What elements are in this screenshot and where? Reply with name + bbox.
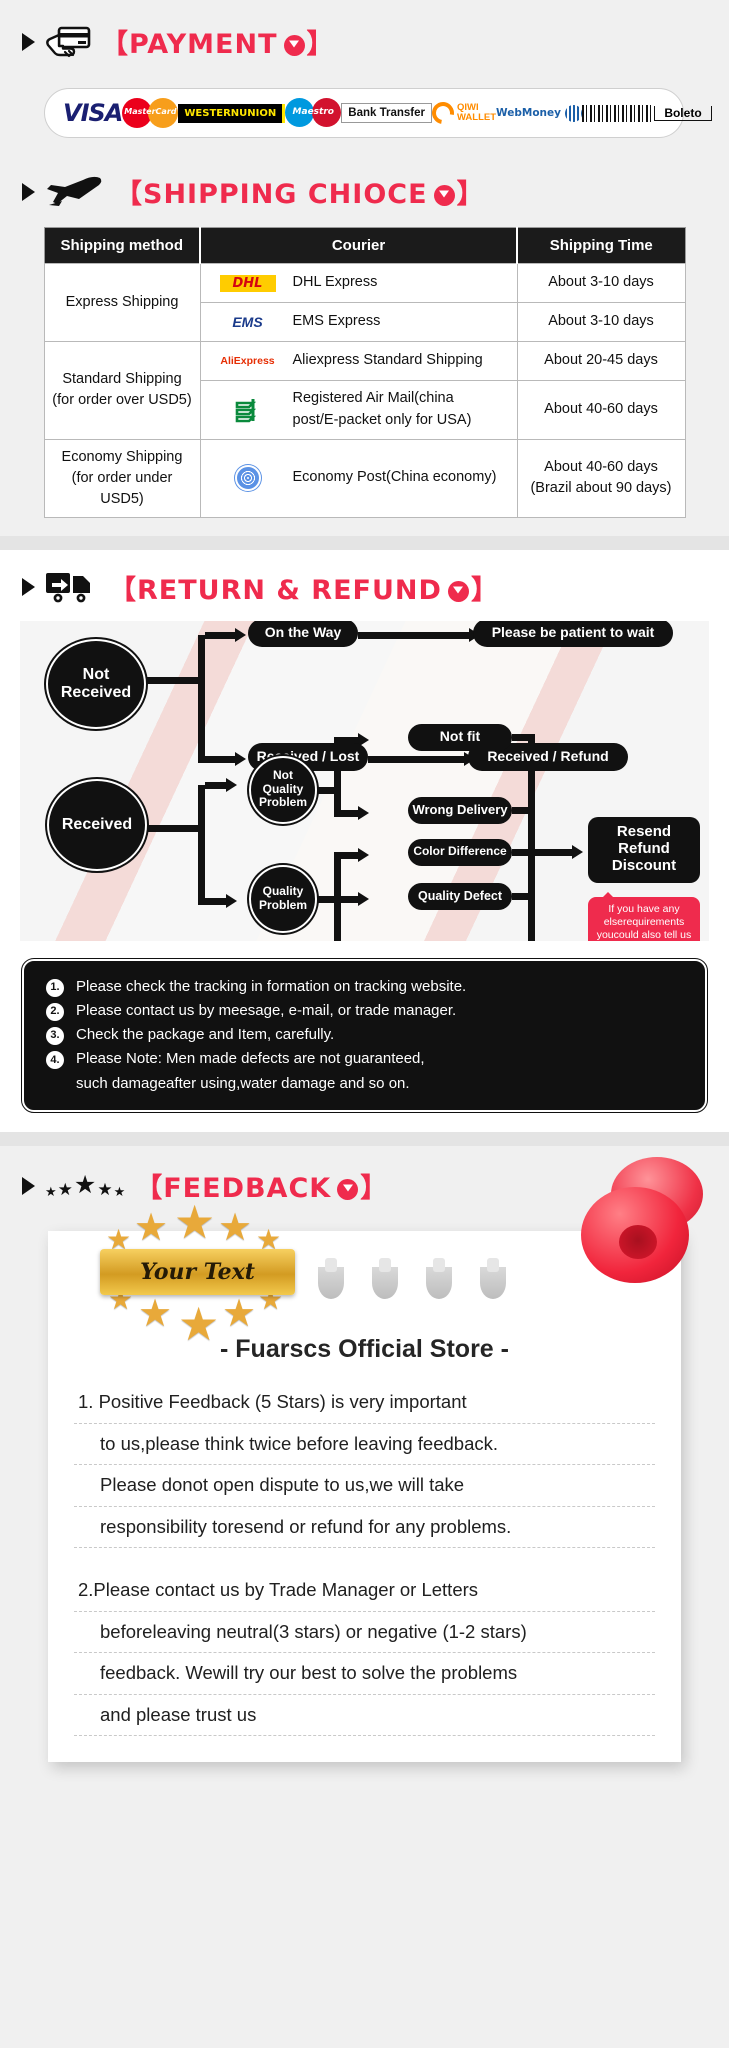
check-badge-icon — [337, 1179, 358, 1200]
list-number: 2. — [46, 1003, 64, 1021]
payment-section: 【PAYMENT】 VISA MasterCard WESTERNUNION M… — [0, 0, 729, 160]
cell-courier: AliExpress Aliexpress Standard Shipping — [200, 342, 517, 381]
credit-card-hand-icon — [45, 25, 91, 59]
flow-node-not-received: NotReceived — [46, 639, 146, 729]
return-title: 【RETURN & REFUND】 — [109, 568, 499, 607]
feedback-line: Please donot open dispute to us,we will … — [74, 1465, 655, 1507]
list-text: Please contact us by meesage, e-mail, or… — [76, 999, 456, 1023]
feedback-line: beforeleaving neutral(3 stars) or negati… — [74, 1612, 655, 1654]
feedback-line: and please trust us — [74, 1695, 655, 1737]
cell-method: Standard Shipping(for order over USD5) — [44, 342, 200, 440]
section-divider — [0, 1132, 729, 1146]
flow-arrow — [572, 845, 583, 859]
arrow-right-icon — [22, 578, 35, 596]
list-number: 3. — [46, 1027, 64, 1045]
table-header-row: Shipping method Courier Shipping Time — [44, 228, 685, 264]
badge-ribbon-text: Your Text — [140, 1259, 255, 1285]
flow-node-wrong-delivery: Wrong Delivery — [408, 797, 512, 824]
maestro-logo: Maestro — [285, 97, 341, 129]
dhl-logo: DHL — [217, 271, 279, 295]
col-shipping-method: Shipping method — [44, 228, 200, 264]
feedback-line: to us,please think twice before leaving … — [74, 1424, 655, 1466]
push-pin-icon — [563, 1179, 703, 1319]
flow-arrow — [358, 806, 369, 820]
arrow-right-icon — [22, 183, 35, 201]
flow-arrow — [235, 752, 246, 766]
cell-courier: DHL DHL Express — [200, 264, 517, 303]
list-number: 4. — [46, 1051, 64, 1069]
flow-node-quality-defect: Quality Defect — [408, 883, 512, 910]
table-row: Economy Shipping(for order under USD5) E… — [44, 439, 685, 517]
cell-time: About 20-45 days — [517, 342, 685, 381]
flow-node-please-wait: Please be patient to wait — [473, 621, 673, 647]
feedback-line: 1. Positive Feedback (5 Stars) is very i… — [74, 1382, 655, 1424]
flow-line — [198, 677, 205, 763]
list-text: Please check the tracking in formation o… — [76, 975, 466, 999]
feedback-section: ★ ★ ★ ★ ★ 【FEEDBACK】 ★ ★ ★ ★ ★ ★ ★ ★ ★ ★… — [0, 1146, 729, 1780]
five-stars-icon: ★ ★ ★ ★ ★ — [45, 1173, 125, 1198]
list-item: 3. Check the package and Item, carefully… — [46, 1023, 695, 1047]
list-text: Check the package and Item, carefully. — [76, 1023, 334, 1047]
flow-arrow — [226, 894, 237, 908]
list-item: 1. Please check the tracking in formatio… — [46, 975, 695, 999]
flow-line — [535, 849, 575, 856]
check-badge-icon — [284, 35, 305, 56]
cell-courier: Registered Air Mail(chinapost/E-packet o… — [200, 381, 517, 440]
flow-callout-bubble: If you have anyelserequirementsyoucould … — [588, 897, 700, 941]
list-text: Please Note: Men made defects are not gu… — [76, 1047, 425, 1071]
flow-arrow — [235, 628, 246, 642]
shipping-heading: 【SHIPPING CHIOCE】 — [0, 160, 729, 211]
bank-transfer-logo: Bank Transfer — [341, 103, 432, 123]
check-badge-icon — [448, 581, 469, 602]
flow-line — [145, 677, 205, 684]
mastercard-logo: MasterCard — [122, 96, 178, 130]
feedback-line: responsibility toresend or refund for an… — [74, 1507, 655, 1549]
visa-logo: VISA — [63, 99, 122, 127]
list-item: 4. Please Note: Men made defects are not… — [46, 1047, 695, 1071]
return-refund-section: 【RETURN & REFUND】 NotReceived On the Way… — [0, 550, 729, 1132]
return-notes-box: 1. Please check the tracking in formatio… — [22, 959, 707, 1112]
cell-method: Economy Shipping(for order under USD5) — [44, 439, 200, 517]
delivery-truck-icon — [45, 569, 99, 605]
paper-hangers-decoration — [318, 1267, 506, 1299]
flow-line — [334, 852, 341, 941]
flow-node-resend-refund-discount: ResendRefundDiscount — [588, 817, 700, 883]
arrow-right-icon — [22, 1177, 35, 1195]
cell-time: About 3-10 days — [517, 264, 685, 303]
flow-node-not-quality-problem: NotQualityProblem — [249, 756, 317, 824]
table-row: Standard Shipping(for order over USD5) A… — [44, 342, 685, 381]
shipping-title: 【SHIPPING CHIOCE】 — [115, 172, 485, 211]
feedback-line: 2.Please contact us by Trade Manager or … — [74, 1570, 655, 1612]
cell-time: About 40-60 days — [517, 381, 685, 440]
flow-line — [205, 756, 237, 763]
badge-ribbon: Your Text — [100, 1249, 295, 1295]
col-courier: Courier — [200, 228, 517, 264]
flow-line — [145, 825, 205, 832]
feedback-note-card: ★ ★ ★ ★ ★ ★ ★ ★ ★ ★ Your Text - Fuarscs … — [48, 1231, 681, 1762]
flow-node-not-fit: Not fit — [408, 724, 512, 751]
flow-line — [198, 785, 205, 905]
feedback-spacer — [74, 1548, 655, 1570]
col-shipping-time: Shipping Time — [517, 228, 685, 264]
cell-courier: Economy Post(China economy) — [200, 439, 517, 517]
cell-time: About 3-10 days — [517, 303, 685, 342]
boleto-logo: Boleto — [582, 105, 712, 122]
flow-node-on-the-way: On the Way — [248, 621, 358, 647]
flow-node-received: Received — [47, 779, 147, 871]
airplane-icon — [45, 175, 105, 209]
return-flowchart: NotReceived On the Way Please be patient… — [20, 621, 709, 941]
cell-courier: EMS EMS Express — [200, 303, 517, 342]
flow-arrow — [358, 848, 369, 862]
list-number: 1. — [46, 979, 64, 997]
list-item: 2. Please contact us by meesage, e-mail,… — [46, 999, 695, 1023]
payment-methods-strip: VISA MasterCard WESTERNUNION Maestro Ban… — [44, 88, 684, 138]
ems-logo: EMS — [217, 310, 279, 334]
flow-node-quality-problem: QualityProblem — [249, 865, 317, 933]
your-text-star-badge: ★ ★ ★ ★ ★ ★ ★ ★ ★ ★ Your Text — [90, 1197, 305, 1347]
qiwi-wallet-logo: QIWIWALLET — [432, 102, 496, 124]
china-post-logo — [217, 398, 279, 422]
flow-line — [368, 756, 468, 763]
section-divider — [0, 536, 729, 550]
flow-arrow — [226, 778, 237, 792]
webmoney-logo: WebMoney — [496, 105, 582, 122]
western-union-logo: WESTERNUNION — [178, 104, 285, 123]
payment-title: 【PAYMENT】 — [101, 22, 335, 61]
return-heading: 【RETURN & REFUND】 — [0, 550, 729, 607]
flow-arrow — [358, 892, 369, 906]
cell-method: Express Shipping — [44, 264, 200, 342]
aliexpress-logo: AliExpress — [217, 349, 279, 373]
flow-line — [205, 632, 237, 639]
shipping-section: 【SHIPPING CHIOCE】 Shipping method Courie… — [0, 160, 729, 536]
feedback-line: feedback. Wewill try our best to solve t… — [74, 1653, 655, 1695]
un-globe-logo — [217, 466, 279, 490]
payment-heading: 【PAYMENT】 — [0, 0, 729, 61]
list-text-continuation: such damageafter using,water damage and … — [46, 1072, 695, 1096]
arrow-right-icon — [22, 33, 35, 51]
flow-node-color-difference: Color Difference — [408, 839, 512, 866]
check-badge-icon — [434, 185, 455, 206]
flow-line — [358, 632, 473, 639]
table-row: Express Shipping DHL DHL Express About 3… — [44, 264, 685, 303]
shipping-table: Shipping method Courier Shipping Time Ex… — [44, 227, 686, 518]
cell-time: About 40-60 days(Brazil about 90 days) — [517, 439, 685, 517]
